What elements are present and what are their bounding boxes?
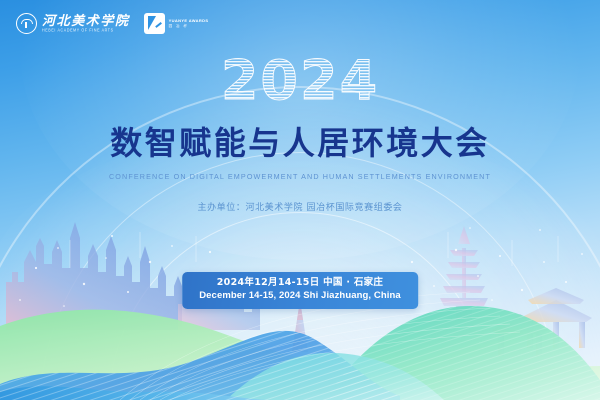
year-2024-text: 2024 [221,52,379,110]
year-2024: 2024 [0,52,600,115]
logo-hebei-academy[interactable]: 河北美术学院 HEBEI ACADEMY OF FINE ARTS [16,13,130,34]
page-subtitle: CONFERENCE ON DIGITAL EMPOWERMENT AND HU… [0,172,600,181]
logo-yuanye-cn: 园 冶 杯 [169,24,209,28]
chinese-pavilion-silhouette [492,288,592,356]
logo-hebei-academy-cn: 河北美术学院 [42,14,130,27]
logo-yuanye-awards[interactable]: YUANYE AWARDS 园 冶 杯 [144,13,209,34]
header-logos: 河北美术学院 HEBEI ACADEMY OF FINE ARTS YUANYE… [16,13,208,34]
date-location-en: December 14-15, 2024 Shi Jiazhuang, Chin… [199,290,401,303]
yuanye-logo-icon [144,13,165,34]
year-2024-graphic: 2024 [210,52,390,110]
page-title: 数智赋能与人居环境大会 [0,125,600,163]
date-location-cn: 2024年12月14-15日 中国 · 石家庄 [199,277,401,290]
chinese-pagoda-silhouette [440,226,488,320]
hero-title-block: 数智赋能与人居环境大会 CONFERENCE ON DIGITAL EMPOWE… [0,125,600,213]
organizer-line: 主办单位：河北美术学院 园冶杯国际竞赛组委会 [0,200,600,213]
conference-poster: 河北美术学院 HEBEI ACADEMY OF FINE ARTS YUANYE… [0,0,600,400]
logo-hebei-academy-en: HEBEI ACADEMY OF FINE ARTS [42,29,130,33]
seal-icon [16,13,37,34]
date-location-badge: 2024年12月14-15日 中国 · 石家庄 December 14-15, … [182,272,418,309]
logo-yuanye-en: YUANYE AWARDS [169,18,209,23]
